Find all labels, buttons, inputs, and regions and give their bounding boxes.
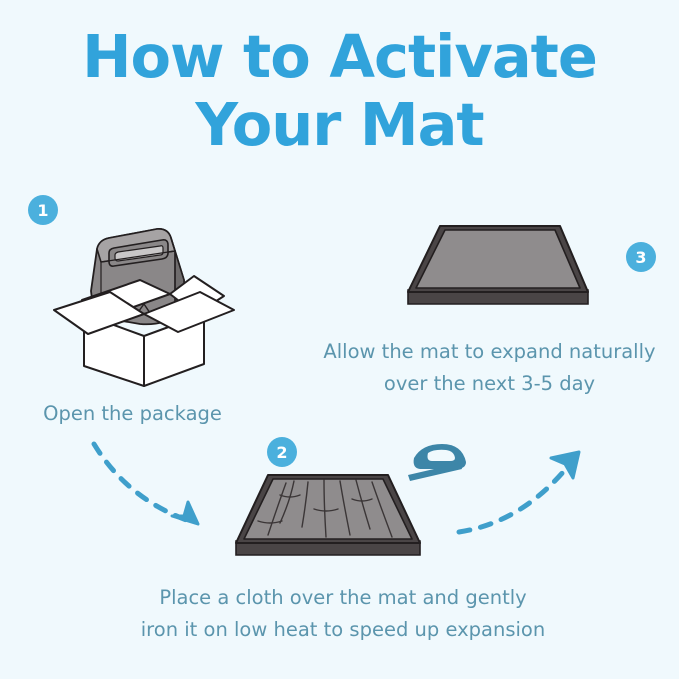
- arrow-step2-to-step3: [455, 438, 600, 543]
- arrow-1-head: [172, 502, 198, 524]
- step-1-caption-line-1: Open the package: [43, 402, 222, 425]
- title-line-1: How to Activate: [0, 26, 679, 88]
- title-line-2: Your Mat: [0, 94, 679, 156]
- step-3-caption: Allow the mat to expand naturally over t…: [300, 336, 679, 400]
- step-3-caption-line-2: over the next 3-5 day: [300, 368, 679, 400]
- open-box-illustration: [44, 218, 244, 388]
- step-1-caption: Open the package: [0, 398, 265, 430]
- step-1-number: 1: [37, 201, 48, 220]
- arrow-step1-to-step2: [88, 438, 223, 543]
- step-2-caption-line-1: Place a cloth over the mat and gently: [159, 586, 526, 609]
- step-3-caption-line-1: Allow the mat to expand naturally: [323, 340, 655, 363]
- step-2-caption: Place a cloth over the mat and gently ir…: [108, 582, 578, 646]
- page-title: How to Activate Your Mat: [0, 26, 679, 156]
- arrow-2-dashed-path: [459, 460, 573, 532]
- flat-mat-surface: [416, 230, 580, 288]
- step-2-number: 2: [276, 443, 287, 462]
- arrow-2-head: [551, 452, 579, 478]
- step-3-number-badge: 3: [626, 242, 656, 272]
- step-2-caption-line-2: iron it on low heat to speed up expansio…: [108, 614, 578, 646]
- flat-mat-illustration: [398, 218, 598, 318]
- step-2-number-badge: 2: [267, 437, 297, 467]
- step-3-number: 3: [635, 248, 646, 267]
- arrow-1-dashed-path: [94, 444, 192, 522]
- infographic-canvas: How to Activate Your Mat 1 Open the pack…: [0, 0, 679, 679]
